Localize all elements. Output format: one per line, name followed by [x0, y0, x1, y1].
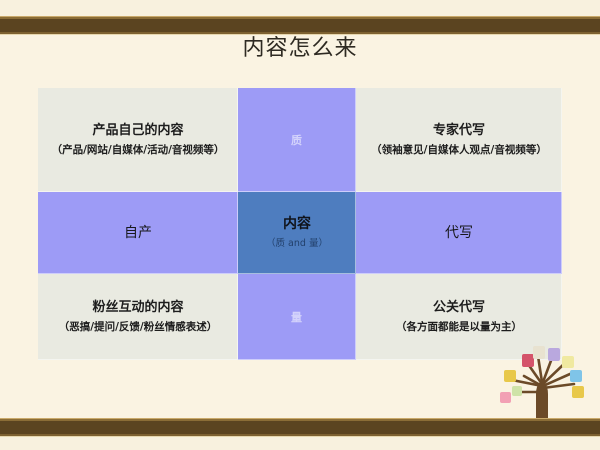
cell-subtext: （恶搞/提问/反馈/粉丝情感表述） [59, 320, 218, 336]
matrix-cell-bottom-left[interactable]: 粉丝互动的内容 （恶搞/提问/反馈/粉丝情感表述） [38, 274, 238, 360]
cell-heading: 代写 [445, 223, 473, 243]
matrix-cell-top-center[interactable]: 质 [238, 88, 356, 192]
matrix-cell-middle-right[interactable]: 代写 [356, 192, 562, 274]
cell-heading: 专家代写 [433, 122, 485, 141]
matrix-cell-top-right[interactable]: 专家代写 （领袖意见/自媒体人观点/音视频等） [356, 88, 562, 192]
bottom-rule-decoration [0, 418, 600, 437]
matrix-cell-middle-left[interactable]: 自产 [38, 192, 238, 274]
cell-subtext: （领袖意见/自媒体人观点/音视频等） [371, 143, 547, 159]
content-matrix: 产品自己的内容 （产品/网站/自媒体/活动/音视频等） 质 专家代写 （领袖意见… [38, 88, 562, 360]
rule-thick-bar [0, 421, 600, 434]
cell-heading: 内容 [283, 215, 311, 235]
cell-subtext: （质 and 量） [266, 237, 328, 251]
cell-heading: 公关代写 [433, 299, 485, 318]
matrix-cell-top-left[interactable]: 产品自己的内容 （产品/网站/自媒体/活动/音视频等） [38, 88, 238, 192]
matrix-cell-center[interactable]: 内容 （质 and 量） [238, 192, 356, 274]
rule-hairline-bottom [0, 436, 600, 437]
axis-ghost-label: 量 [291, 309, 303, 325]
cell-subtext: （产品/网站/自媒体/活动/音视频等） [52, 143, 225, 159]
cell-heading: 自产 [124, 223, 152, 243]
matrix-cell-bottom-right[interactable]: 公关代写 （各方面都能是以量为主） [356, 274, 562, 360]
cell-subtext: （各方面都能是以量为主） [396, 320, 522, 336]
axis-ghost-label: 质 [291, 132, 303, 148]
cell-heading: 粉丝互动的内容 [92, 299, 183, 318]
matrix-cell-bottom-center[interactable]: 量 [238, 274, 356, 360]
cell-heading: 产品自己的内容 [92, 122, 183, 141]
page-title: 内容怎么来 [0, 30, 600, 62]
